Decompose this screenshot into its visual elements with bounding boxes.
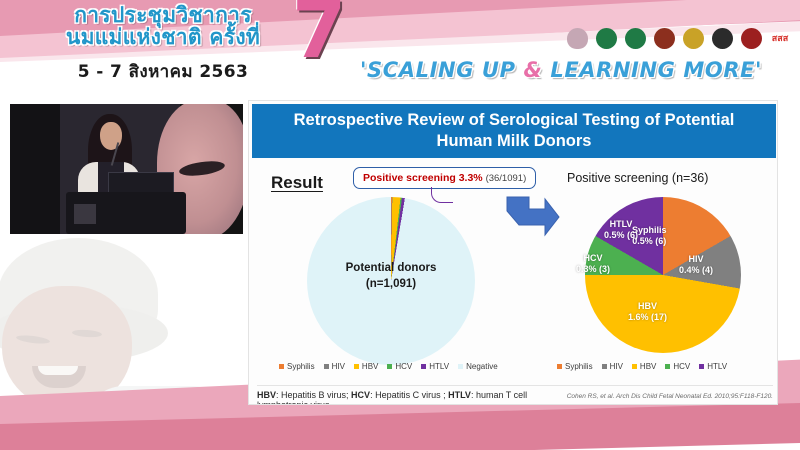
legend-swatch-syphilis xyxy=(279,364,284,369)
legend-swatch-hbv-right xyxy=(632,364,637,369)
pie-slice-label-hiv: HIV 0.4% (4) xyxy=(679,254,713,277)
thai-title-line-1: การประชุมวิชาการ xyxy=(28,4,298,26)
slice-htlv-value: 0.5% (6) xyxy=(604,230,638,241)
conference-tagline: 'SCALING UP & LEARNING MORE' xyxy=(360,58,762,82)
legend-left-label-negative: Negative xyxy=(466,362,498,371)
legend-swatch-hbv xyxy=(354,364,359,369)
slide-title: Retrospective Review of Serological Test… xyxy=(252,104,776,158)
legend-right-label-htlv: HTLV xyxy=(707,362,727,371)
legend-left-label-syphilis: Syphilis xyxy=(287,362,315,371)
slice-hbv-name: HBV xyxy=(628,301,667,312)
logo-ministry-health-green xyxy=(594,24,618,52)
hbv-key: HBV xyxy=(257,390,276,400)
legend-swatch-negative xyxy=(458,364,463,369)
thai-title-line-2: นมแม่แห่งชาติ ครั้งที่ xyxy=(28,26,298,48)
legend-swatch-htlv-right xyxy=(699,364,704,369)
slide-footnote: HBV: Hepatitis B virus; HCV: Hepatitis C… xyxy=(257,385,773,405)
pie-left-label-line1: Potential donors xyxy=(307,261,475,277)
result-heading: Result xyxy=(271,173,323,193)
slice-htlv-name: HTLV xyxy=(604,219,638,230)
pie-slice-label-hbv: HBV 1.6% (17) xyxy=(628,301,667,324)
logo-royal-seal xyxy=(565,24,589,52)
legend-right-item-htlv: HTLV xyxy=(699,362,727,371)
legend-swatch-hiv-right xyxy=(602,364,607,369)
callout-detail: (36/1091) xyxy=(486,173,527,184)
hcv-definition: : Hepatitis C virus ; xyxy=(370,390,448,400)
positive-screening-callout: Positive screening 3.3% (36/1091) xyxy=(353,167,536,189)
legend-right-item-hcv: HCV xyxy=(665,362,690,371)
speaker-video-panel[interactable] xyxy=(10,104,243,234)
slice-hcv-value: 0.3% (3) xyxy=(576,264,610,275)
legend-left-label-hiv: HIV xyxy=(332,362,345,371)
sponsor-logo-row: สสส xyxy=(565,24,792,52)
pie-slice-label-htlv: HTLV 0.5% (6) xyxy=(604,219,638,242)
presentation-slide: Retrospective Review of Serological Test… xyxy=(248,100,778,405)
legend-right-item-hiv: HIV xyxy=(602,362,623,371)
logo-ministry-public-health xyxy=(710,24,734,52)
presentation-screen: การประชุมวิชาการ นมแม่แห่งชาติ ครั้งที่ … xyxy=(0,0,800,450)
conference-thai-title: การประชุมวิชาการ นมแม่แห่งชาติ ครั้งที่ xyxy=(28,4,298,49)
edition-number: 7 xyxy=(292,0,346,70)
slice-hiv-value: 0.4% (4) xyxy=(679,265,713,276)
logo-royal-college xyxy=(681,24,705,52)
pie-left-label-line2: (n=1,091) xyxy=(307,277,475,293)
legend-right-label-hcv: HCV xyxy=(673,362,690,371)
logo-department-health-green xyxy=(623,24,647,52)
conference-date: 5 - 7 สิงหาคม 2563 xyxy=(28,58,298,85)
pie-slice-label-hcv: HCV 0.3% (3) xyxy=(576,253,610,276)
transition-arrow-icon xyxy=(505,193,561,239)
callout-highlight: Positive screening 3.3% xyxy=(363,172,483,184)
thaihealth-label: สสส xyxy=(772,31,788,45)
logo-garuda-red xyxy=(739,24,763,52)
logo-pediatric-society xyxy=(652,24,676,52)
legend-right: Syphilis HIV HBV HCV HTLV xyxy=(557,362,727,371)
legend-left-item-hcv: HCV xyxy=(387,362,412,371)
legend-left-label-htlv: HTLV xyxy=(429,362,449,371)
citation: Cohen RS, et al. Arch Dis Child Fetal Ne… xyxy=(567,393,773,400)
legend-left-item-syphilis: Syphilis xyxy=(279,362,315,371)
legend-left: Syphilis HIV HBV HCV HTLV Negative xyxy=(279,362,498,371)
legend-left-item-negative: Negative xyxy=(458,362,498,371)
legend-swatch-hiv xyxy=(324,364,329,369)
legend-left-label-hcv: HCV xyxy=(395,362,412,371)
tagline-part-2: LEARNING MORE' xyxy=(542,58,762,82)
abbreviation-definitions: HBV: Hepatitis B virus; HCV: Hepatitis C… xyxy=(257,390,567,405)
legend-swatch-syphilis-right xyxy=(557,364,562,369)
pie-right-title: Positive screening (n=36) xyxy=(567,171,708,185)
legend-right-item-syphilis: Syphilis xyxy=(557,362,593,371)
tagline-part-1: 'SCALING UP xyxy=(360,58,524,82)
legend-left-item-hbv: HBV xyxy=(354,362,378,371)
slice-hcv-name: HCV xyxy=(576,253,610,264)
logo-thaihealth-sss: สสส xyxy=(768,24,792,52)
baby-teeth xyxy=(38,366,78,375)
conference-header-banner: การประชุมวิชาการ นมแม่แห่งชาติ ครั้งที่ … xyxy=(0,0,800,95)
callout-leader-line xyxy=(431,187,453,203)
podium-plate xyxy=(74,204,96,224)
legend-right-label-syphilis: Syphilis xyxy=(565,362,593,371)
hbv-definition: : Hepatitis B virus; xyxy=(276,390,351,400)
legend-swatch-hcv-right xyxy=(665,364,670,369)
slice-hbv-value: 1.6% (17) xyxy=(628,312,667,323)
legend-left-item-htlv: HTLV xyxy=(421,362,449,371)
legend-left-label-hbv: HBV xyxy=(362,362,378,371)
tagline-ampersand: & xyxy=(524,58,543,82)
legend-swatch-hcv xyxy=(387,364,392,369)
speaker-face xyxy=(100,122,122,150)
legend-right-label-hbv: HBV xyxy=(640,362,656,371)
pie-left-center-label: Potential donors (n=1,091) xyxy=(307,261,475,292)
legend-left-item-hiv: HIV xyxy=(324,362,345,371)
htlv-key: HTLV xyxy=(448,390,471,400)
legend-swatch-htlv xyxy=(421,364,426,369)
slice-hiv-name: HIV xyxy=(679,254,713,265)
legend-right-label-hiv: HIV xyxy=(610,362,623,371)
legend-right-item-hbv: HBV xyxy=(632,362,656,371)
hcv-key: HCV xyxy=(351,390,370,400)
